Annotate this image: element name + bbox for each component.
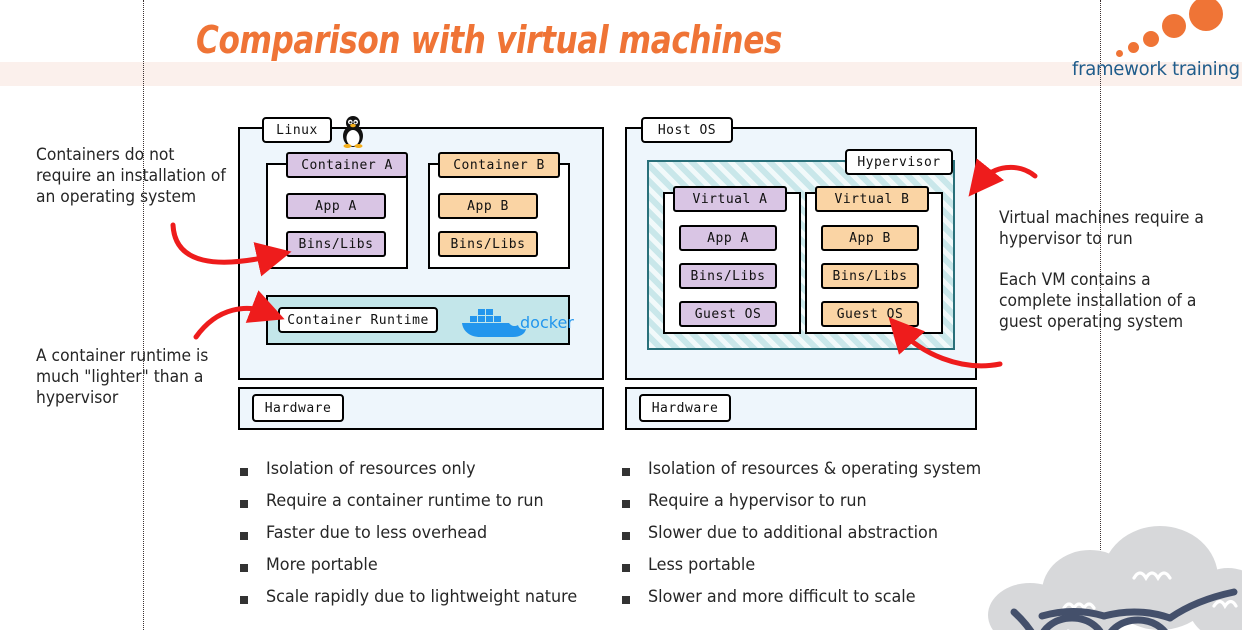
container-a-layer-app: App A — [286, 193, 386, 219]
container-benefits-list: Isolation of resources only Require a co… — [240, 457, 670, 617]
list-item: Isolation of resources & operating syste… — [622, 457, 1052, 489]
container-a-layer-binslibs: Bins/Libs — [286, 231, 386, 257]
virtual-b-layer-binslibs: Bins/Libs — [821, 263, 919, 289]
page-title: Comparison with virtual machines — [196, 18, 868, 62]
slide-canvas: Comparison with virtual machines framewo… — [0, 0, 1242, 630]
virtual-b-layer-guestos: Guest OS — [821, 301, 919, 327]
virtual-machine-architecture-diagram: Host OS Hypervisor Virtual A App A Bins/… — [625, 115, 977, 430]
logo-dot-4 — [1162, 14, 1186, 38]
logo-dot-3 — [1143, 31, 1159, 47]
bullet-marker-icon — [622, 532, 630, 540]
virtual-b-layer-app: App B — [821, 225, 919, 251]
list-item: More portable — [240, 553, 670, 585]
container-b-title: Container B — [438, 152, 560, 178]
logo-dot-1 — [1116, 50, 1123, 57]
bullet-marker-icon — [240, 564, 248, 572]
bullet-marker-icon — [622, 596, 630, 604]
list-item: Scale rapidly due to lightweight nature — [240, 585, 670, 617]
arrow-right-top — [981, 167, 1035, 181]
brand-name: framework training — [1072, 58, 1234, 80]
container-a-title: Container A — [286, 152, 408, 178]
brand-logo: framework training — [1072, 2, 1242, 86]
list-item: Isolation of resources only — [240, 457, 670, 489]
bullet-marker-icon — [240, 468, 248, 476]
host-os-label: Host OS — [641, 117, 733, 143]
glasses-clouds-illustration — [982, 520, 1242, 630]
annotation-vm-guest-os: Each VM contains a complete installation… — [999, 269, 1215, 332]
virtual-a-layer-binslibs: Bins/Libs — [679, 263, 777, 289]
left-hardware-label: Hardware — [252, 394, 344, 422]
bullet-marker-icon — [622, 500, 630, 508]
bullet-marker-icon — [240, 500, 248, 508]
container-architecture-diagram: Linux Container A App A — [238, 115, 604, 430]
virtual-a-layer-app: App A — [679, 225, 777, 251]
bullet-marker-icon — [240, 596, 248, 604]
list-item: Require a hypervisor to run — [622, 489, 1052, 521]
docker-logo: docker — [458, 306, 564, 334]
bullet-marker-icon — [240, 532, 248, 540]
annotation-containers-no-os: Containers do not require an installatio… — [36, 144, 233, 207]
annotation-runtime-lighter: A container runtime is much "lighter" th… — [36, 345, 233, 408]
linux-penguin-icon — [338, 114, 368, 148]
bullet-marker-icon — [622, 564, 630, 572]
docker-wordmark: docker — [520, 313, 574, 332]
list-item: Require a container runtime to run — [240, 489, 670, 521]
container-b-layer-binslibs: Bins/Libs — [438, 231, 538, 257]
hypervisor-label: Hypervisor — [845, 149, 953, 175]
left-os-label: Linux — [262, 117, 332, 143]
container-runtime-label: Container Runtime — [278, 307, 438, 333]
bullet-marker-icon — [622, 468, 630, 476]
logo-dot-2 — [1128, 42, 1139, 53]
virtual-a-title: Virtual A — [673, 186, 787, 212]
header-band — [0, 62, 1242, 86]
list-item: Faster due to less overhead — [240, 521, 670, 553]
annotation-vm-needs-hypervisor: Virtual machines require a hypervisor to… — [999, 207, 1215, 249]
logo-dot-5 — [1189, 0, 1223, 31]
container-b-layer-app: App B — [438, 193, 538, 219]
guide-line-left — [143, 0, 144, 630]
virtual-b-title: Virtual B — [815, 186, 929, 212]
virtual-a-layer-guestos: Guest OS — [679, 301, 777, 327]
right-hardware-label: Hardware — [639, 394, 731, 422]
